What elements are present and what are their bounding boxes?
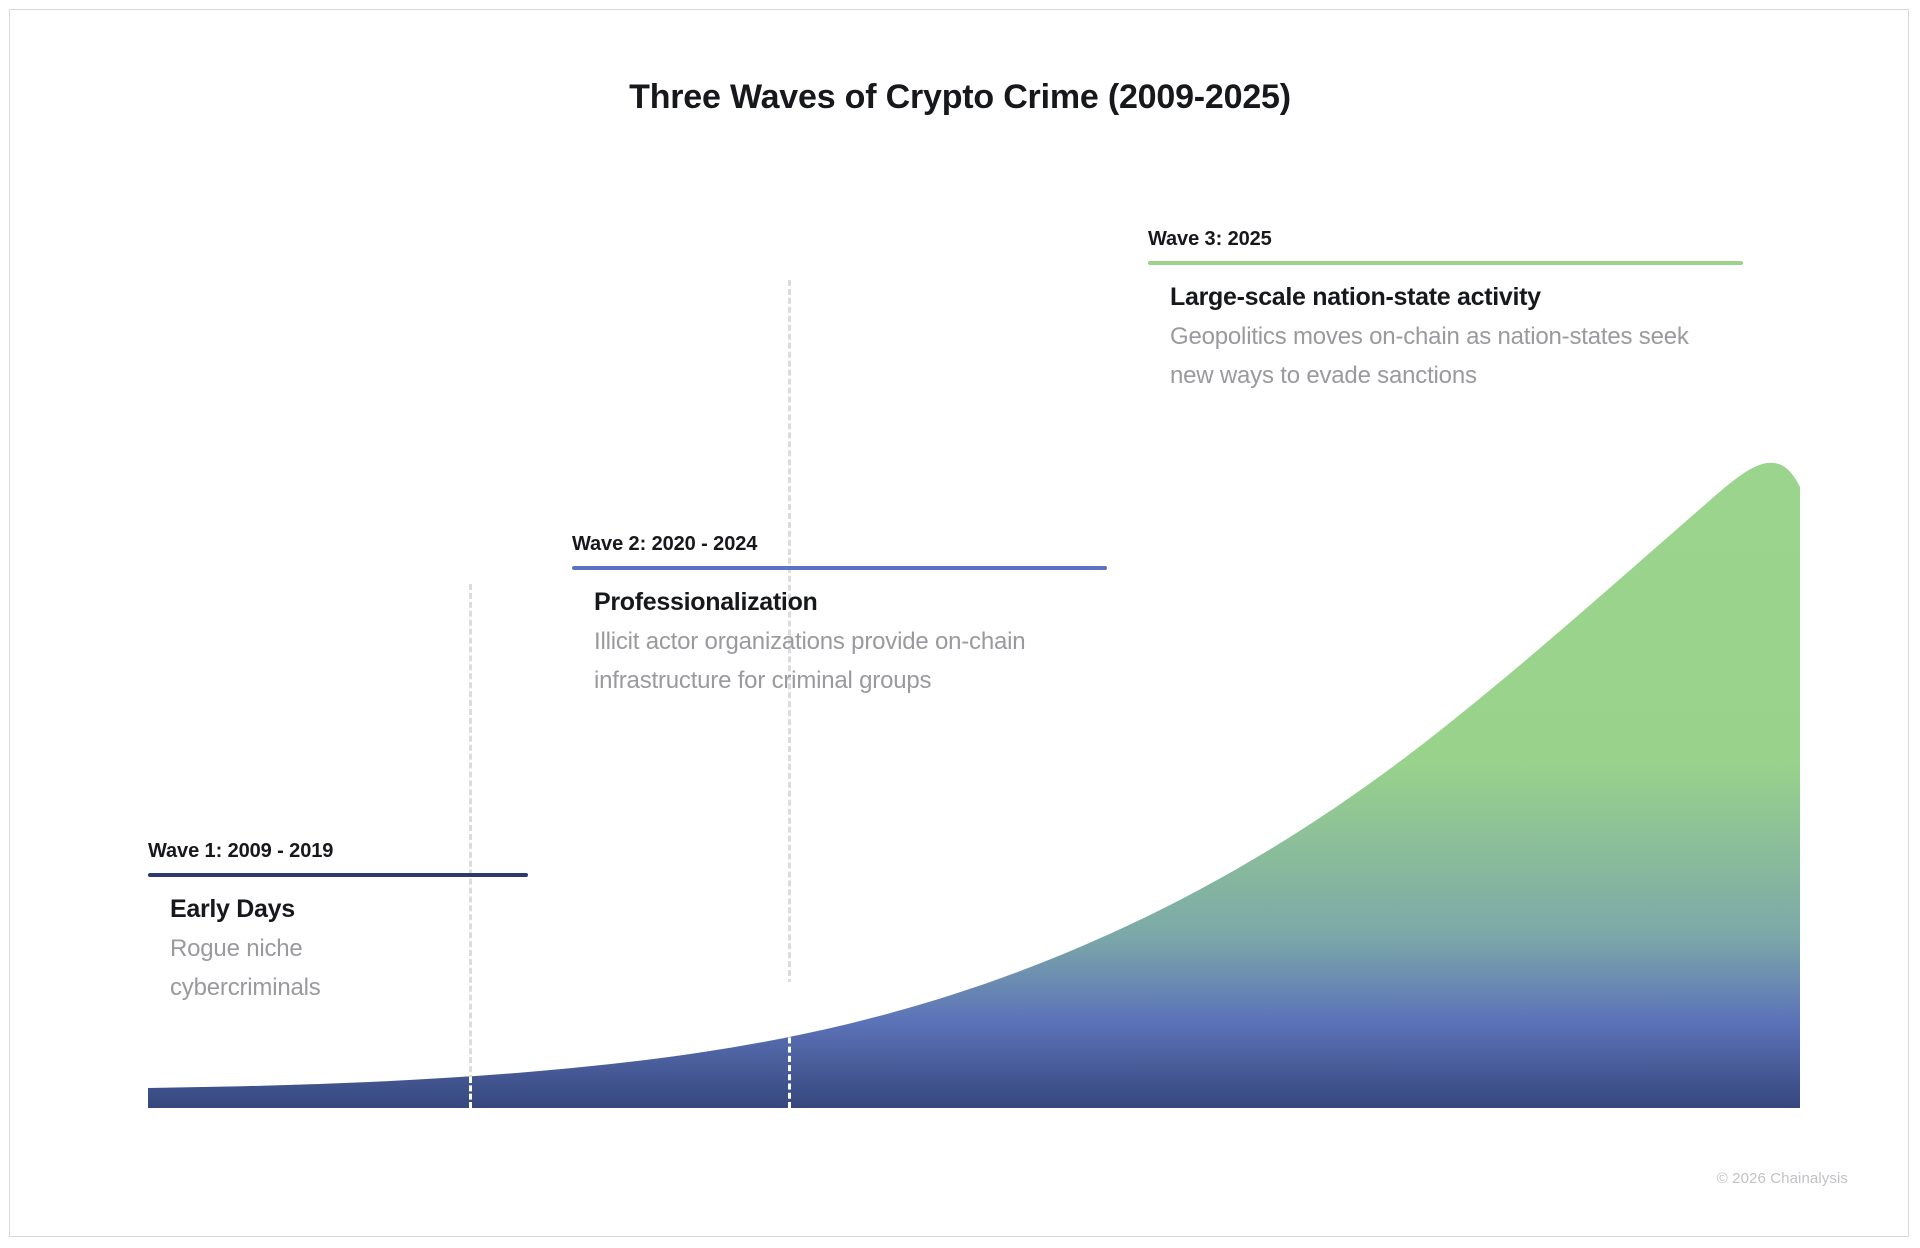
wave-2-body: Professionalization Illicit actor organi…	[572, 570, 1107, 701]
wave-1-heading: Early Days	[170, 895, 528, 924]
wave-divider-2-3-overlay	[788, 982, 791, 1108]
wave-2-description: Illicit actor organizations provide on-c…	[594, 623, 1104, 701]
wave-3-body: Large-scale nation-state activity Geopol…	[1148, 265, 1743, 396]
wave-panel-2: Wave 2: 2020 - 2024 Professionalization …	[572, 533, 1107, 701]
page-title: Three Waves of Crypto Crime (2009-2025)	[0, 78, 1920, 117]
wave-divider-1-2-overlay	[469, 1077, 472, 1108]
wave-3-description: Geopolitics moves on-chain as nation-sta…	[1170, 318, 1705, 396]
wave-3-era-label: Wave 3: 2025	[1148, 228, 1743, 251]
wave-panel-3: Wave 3: 2025 Large-scale nation-state ac…	[1148, 228, 1743, 396]
wave-3-heading: Large-scale nation-state activity	[1170, 283, 1743, 312]
copyright-credit: © 2026 Chainalysis	[1717, 1170, 1848, 1187]
infographic-canvas: Three Waves of Crypto Crime (2009-2025)	[0, 0, 1920, 1248]
wave-2-heading: Professionalization	[594, 588, 1107, 617]
wave-1-era-label: Wave 1: 2009 - 2019	[148, 840, 528, 863]
wave-1-description: Rogue niche cybercriminals	[170, 930, 420, 1008]
wave-2-era-label: Wave 2: 2020 - 2024	[572, 533, 1107, 556]
wave-1-body: Early Days Rogue niche cybercriminals	[148, 877, 528, 1008]
wave-panel-1: Wave 1: 2009 - 2019 Early Days Rogue nic…	[148, 840, 528, 1008]
